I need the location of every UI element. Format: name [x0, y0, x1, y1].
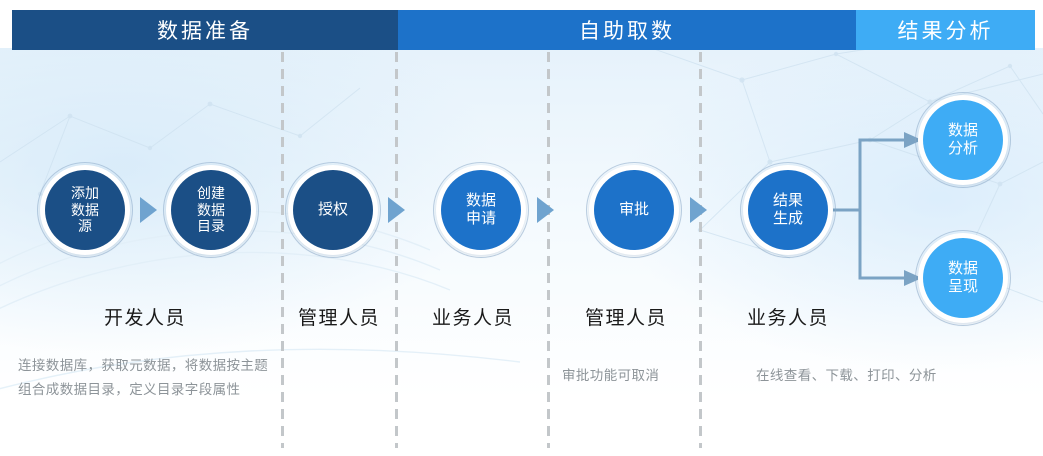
connector-arrow-1 [140, 197, 157, 223]
node-label-line: 审批 [619, 201, 649, 219]
role-label-admin-2: 管理人员 [556, 303, 696, 330]
node-data-analysis[interactable]: 数据 分析 [915, 92, 1011, 188]
column-divider-1 [281, 52, 284, 448]
node-add-datasource[interactable]: 添加 数据 源 [37, 162, 133, 258]
node-approval[interactable]: 审批 [586, 162, 682, 258]
node-label-line: 生成 [773, 210, 803, 228]
node-disc[interactable]: 审批 [594, 170, 674, 250]
node-label-line: 数据 [948, 260, 978, 278]
connector-arrow-4 [690, 197, 707, 223]
node-label-line: 添加 [71, 185, 99, 202]
node-label-line: 创建 [197, 185, 225, 202]
node-result-generate[interactable]: 结果 生成 [740, 162, 836, 258]
description-result: 在线查看、下载、打印、分析 [756, 364, 986, 388]
node-label-line: 申请 [466, 210, 496, 228]
column-divider-3 [547, 52, 550, 448]
column-divider-2 [395, 52, 398, 448]
phase-header-bar: 数据准备 自助取数 结果分析 [12, 10, 1035, 50]
node-disc[interactable]: 创建 数据 目录 [171, 170, 251, 250]
node-disc[interactable]: 结果 生成 [748, 170, 828, 250]
node-disc[interactable]: 数据 呈现 [923, 238, 1003, 318]
node-authorize[interactable]: 授权 [285, 162, 381, 258]
role-label-admin-1: 管理人员 [283, 303, 395, 330]
description-data-preparation: 连接数据库，获取元数据，将数据按主题组合成数据目录，定义目录字段属性 [18, 354, 270, 401]
node-label-line: 源 [78, 218, 92, 235]
phase-segment-result-analysis[interactable]: 结果分析 [856, 10, 1035, 50]
node-label-line: 数据 [197, 202, 225, 219]
role-label-business-1: 业务人员 [403, 303, 543, 330]
description-approval: 审批功能可取消 [562, 364, 712, 388]
node-label-line: 呈现 [948, 278, 978, 296]
column-divider-4 [699, 52, 702, 448]
role-label-business-2: 业务人员 [708, 303, 868, 330]
node-label-line: 结果 [773, 192, 803, 210]
connector-arrow-2 [388, 197, 405, 223]
node-disc[interactable]: 授权 [293, 170, 373, 250]
role-label-developer: 开发人员 [35, 303, 255, 330]
node-data-presentation[interactable]: 数据 呈现 [915, 230, 1011, 326]
node-disc[interactable]: 添加 数据 源 [45, 170, 125, 250]
connector-arrow-3 [537, 197, 554, 223]
node-label-line: 目录 [197, 218, 225, 235]
node-disc[interactable]: 数据 分析 [923, 100, 1003, 180]
node-create-catalog[interactable]: 创建 数据 目录 [163, 162, 259, 258]
flow-diagram-canvas: 数据准备 自助取数 结果分析 添加 数据 源 创建 数据 [0, 0, 1043, 456]
phase-segment-data-preparation[interactable]: 数据准备 [12, 10, 398, 50]
phase-segment-self-service-query[interactable]: 自助取数 [398, 10, 856, 50]
node-label-line: 数据 [948, 122, 978, 140]
node-label-line: 授权 [318, 201, 348, 219]
node-label-line: 数据 [71, 202, 99, 219]
node-data-request[interactable]: 数据 申请 [433, 162, 529, 258]
node-label-line: 分析 [948, 140, 978, 158]
node-disc[interactable]: 数据 申请 [441, 170, 521, 250]
node-label-line: 数据 [466, 192, 496, 210]
